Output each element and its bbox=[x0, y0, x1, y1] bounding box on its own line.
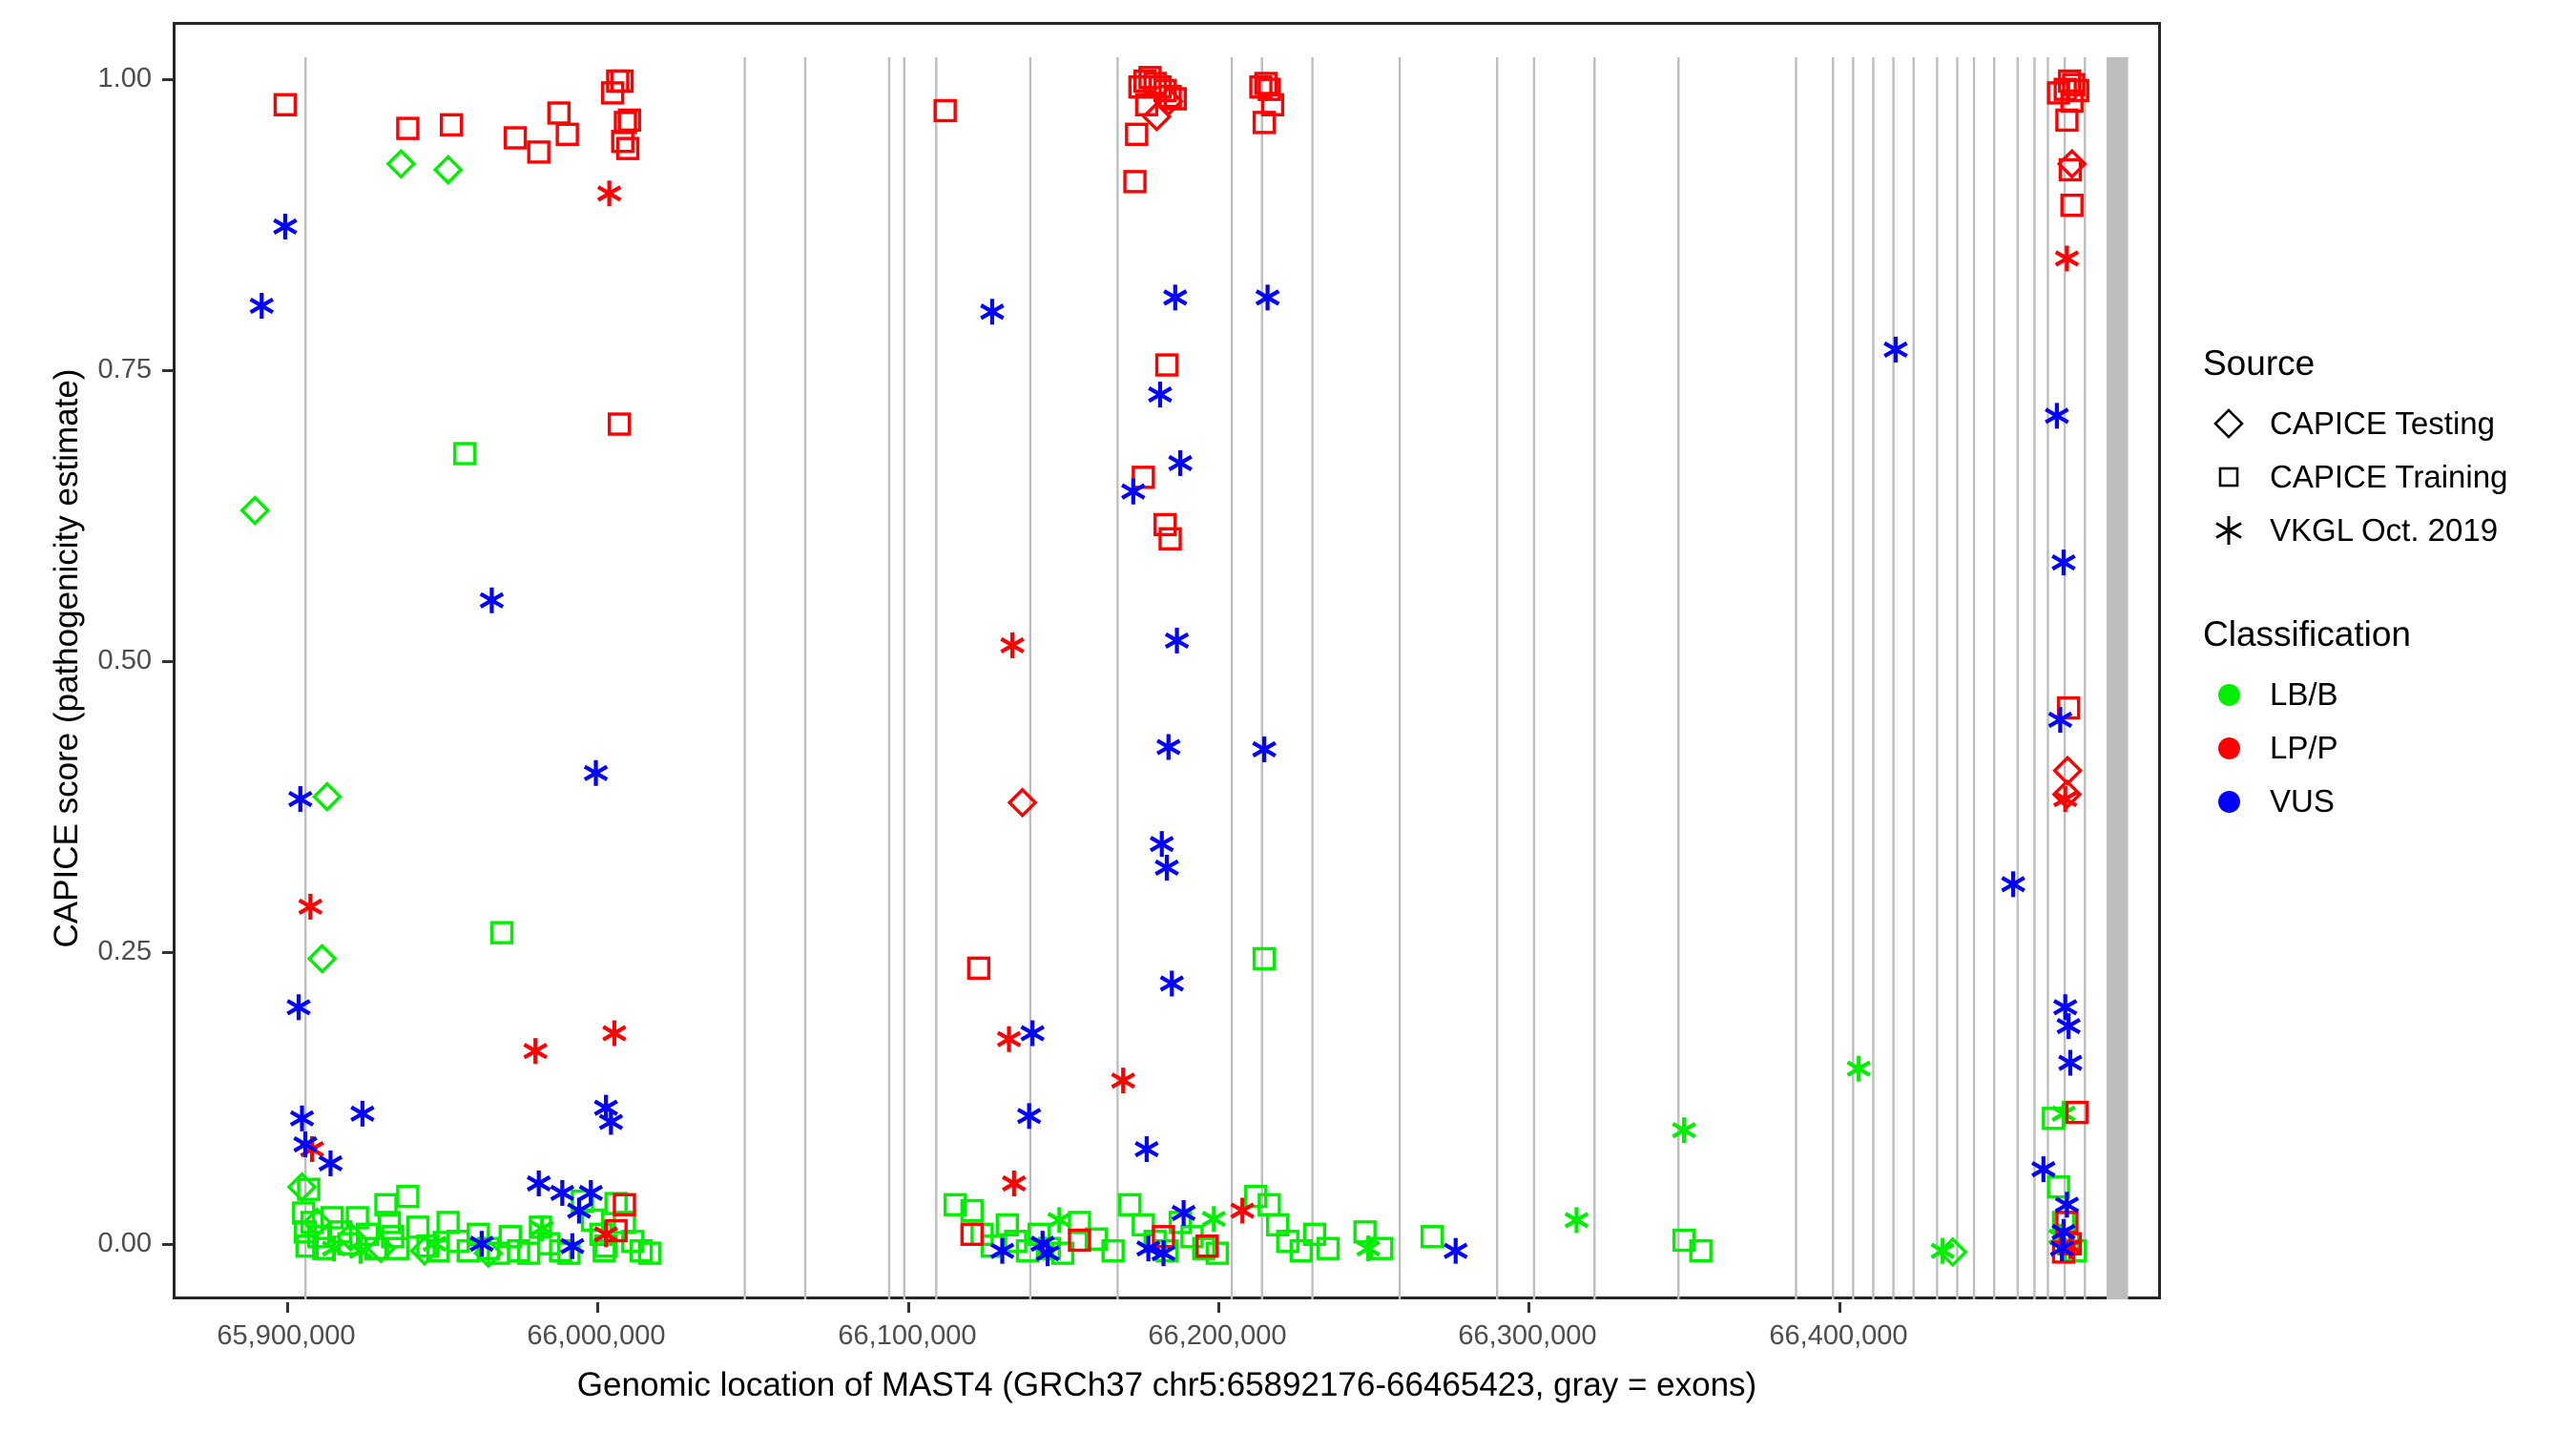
exon-band bbox=[2046, 57, 2048, 1299]
data-point-diamond bbox=[309, 945, 335, 971]
data-point-asterisk bbox=[289, 786, 311, 812]
data-point-square bbox=[442, 114, 462, 135]
data-point-square bbox=[549, 103, 569, 123]
legend-item-vus[interactable]: VUS bbox=[2199, 775, 2571, 828]
x-tick-mark bbox=[1217, 1302, 1220, 1313]
exon-band bbox=[2017, 57, 2019, 1299]
data-point-asterisk bbox=[300, 894, 322, 920]
legend-group-source: Source CAPICE Testing CAPICE Training bbox=[2199, 343, 2571, 557]
x-tick-label-65900000: 65,900,000 bbox=[217, 1320, 355, 1352]
legend-group-classification: Classification LB/B LP/P VUS bbox=[2199, 614, 2571, 828]
x-tick-mark bbox=[1839, 1302, 1841, 1313]
data-point-asterisk bbox=[2059, 1050, 2081, 1076]
exon-band bbox=[1973, 57, 1975, 1299]
data-point-square bbox=[935, 100, 955, 120]
data-point-asterisk bbox=[1672, 1117, 1694, 1143]
data-point-asterisk bbox=[1257, 284, 1278, 310]
data-point-asterisk bbox=[1232, 1198, 1254, 1224]
data-point-square bbox=[617, 138, 637, 158]
data-point-asterisk bbox=[600, 1110, 622, 1135]
data-point-asterisk bbox=[981, 299, 1003, 324]
data-point-square bbox=[1125, 172, 1145, 192]
y-tick-label-0.00: 0.00 bbox=[0, 1228, 152, 1259]
data-point-asterisk bbox=[1122, 479, 1144, 505]
data-point-square bbox=[398, 1187, 418, 1207]
red-dot-icon bbox=[2199, 726, 2258, 770]
legend-item-lp-p[interactable]: LP/P bbox=[2199, 721, 2571, 775]
data-point-square bbox=[1127, 124, 1147, 144]
data-point-diamond bbox=[1009, 790, 1035, 816]
data-point-asterisk bbox=[1566, 1207, 1588, 1233]
exon-band bbox=[2107, 57, 2129, 1299]
data-point-square bbox=[438, 1213, 458, 1233]
data-point-asterisk bbox=[1112, 1068, 1134, 1093]
data-point-square bbox=[387, 1238, 407, 1258]
diamond-icon bbox=[2199, 402, 2258, 446]
data-point-square bbox=[613, 132, 633, 152]
data-point-asterisk bbox=[1444, 1238, 1466, 1264]
exon-band bbox=[1261, 57, 1263, 1299]
data-point-asterisk bbox=[1018, 1103, 1040, 1129]
legend-label: CAPICE Testing bbox=[2270, 405, 2495, 442]
x-tick-mark bbox=[596, 1302, 599, 1313]
exon-bands-layer bbox=[304, 57, 2129, 1299]
data-point-square bbox=[275, 94, 295, 114]
legend-title-classification: Classification bbox=[2203, 614, 2571, 654]
data-point-asterisk bbox=[1021, 1021, 1043, 1047]
exon-band bbox=[804, 57, 806, 1299]
data-point-asterisk bbox=[2052, 550, 2074, 575]
x-axis-title: Genomic location of MAST4 (GRCh37 chr5:6… bbox=[0, 1366, 2334, 1404]
data-point-asterisk bbox=[1166, 628, 1188, 653]
data-point-diamond bbox=[388, 151, 414, 176]
data-point-asterisk bbox=[1003, 1171, 1025, 1196]
exon-band bbox=[2033, 57, 2035, 1299]
data-point-asterisk bbox=[1049, 1207, 1070, 1233]
chart-root: CAPICE score (pathogenicity estimate) 1.… bbox=[0, 0, 2576, 1431]
data-point-square bbox=[455, 444, 475, 464]
data-point-square bbox=[1318, 1238, 1338, 1258]
data-point-square bbox=[491, 923, 511, 943]
exon-band bbox=[1993, 57, 1995, 1299]
exon-band bbox=[888, 57, 890, 1299]
legend-label: VUS bbox=[2270, 783, 2335, 819]
data-point-square bbox=[557, 124, 577, 144]
data-point-diamond bbox=[435, 156, 461, 182]
data-point-asterisk bbox=[1169, 450, 1191, 476]
y-tick-mark bbox=[162, 1243, 173, 1246]
data-point-asterisk bbox=[1164, 284, 1186, 310]
exon-band bbox=[743, 57, 745, 1299]
data-point-asterisk bbox=[2058, 1013, 2080, 1039]
y-tick-mark bbox=[162, 951, 173, 954]
data-point-square bbox=[1157, 355, 1177, 375]
data-point-asterisk bbox=[2002, 871, 2024, 897]
data-point-asterisk bbox=[1149, 382, 1171, 407]
data-point-asterisk bbox=[1001, 633, 1023, 658]
legend-label: VKGL Oct. 2019 bbox=[2270, 512, 2498, 549]
data-point-square bbox=[506, 128, 526, 148]
square-icon bbox=[2199, 455, 2258, 499]
legend: Source CAPICE Testing CAPICE Training bbox=[2199, 343, 2571, 885]
data-point-asterisk bbox=[1157, 735, 1179, 760]
exon-band bbox=[1533, 57, 1535, 1299]
y-tick-label-0.50: 0.50 bbox=[0, 645, 152, 676]
blue-dot-icon bbox=[2199, 779, 2258, 823]
y-tick-label-1.00: 1.00 bbox=[0, 63, 152, 94]
data-point-square bbox=[968, 958, 988, 978]
legend-item-vkgl-oct-2019[interactable]: VKGL Oct. 2019 bbox=[2199, 504, 2571, 557]
x-tick-mark bbox=[286, 1302, 289, 1313]
data-point-asterisk bbox=[1847, 1056, 1869, 1082]
legend-label: CAPICE Training bbox=[2270, 459, 2507, 495]
data-point-diamond bbox=[242, 498, 268, 524]
plot-panel bbox=[173, 22, 2161, 1299]
exon-band bbox=[1872, 57, 1874, 1299]
green-dot-icon bbox=[2199, 673, 2258, 716]
legend-item-capice-testing[interactable]: CAPICE Testing bbox=[2199, 397, 2571, 450]
data-point-square bbox=[2057, 110, 2077, 130]
data-point-asterisk bbox=[1151, 831, 1173, 857]
x-tick-label-66400000: 66,400,000 bbox=[1769, 1320, 1907, 1352]
legend-item-capice-training[interactable]: CAPICE Training bbox=[2199, 450, 2571, 504]
data-point-asterisk bbox=[551, 1180, 573, 1206]
data-point-asterisk bbox=[1884, 337, 1906, 363]
exon-band bbox=[1593, 57, 1595, 1299]
legend-item-lb-b[interactable]: LB/B bbox=[2199, 668, 2571, 721]
exon-band bbox=[1677, 57, 1679, 1299]
data-point-square bbox=[407, 1217, 427, 1237]
x-tick-mark bbox=[907, 1302, 910, 1313]
x-tick-label-66300000: 66,300,000 bbox=[1458, 1320, 1596, 1352]
data-point-asterisk bbox=[2049, 707, 2071, 733]
exon-band bbox=[1852, 57, 1854, 1299]
x-tick-label-66100000: 66,100,000 bbox=[838, 1320, 976, 1352]
data-points-layer bbox=[242, 68, 2088, 1266]
data-point-asterisk bbox=[291, 1106, 313, 1131]
y-tick-label-0.75: 0.75 bbox=[0, 354, 152, 385]
data-point-square bbox=[1423, 1227, 1443, 1247]
exon-band bbox=[1956, 57, 1958, 1299]
data-point-asterisk bbox=[1253, 736, 1275, 762]
legend-title-source: Source bbox=[2203, 343, 2571, 384]
exon-band bbox=[904, 57, 905, 1299]
data-point-asterisk bbox=[998, 1027, 1020, 1052]
data-point-asterisk bbox=[2056, 245, 2078, 271]
exon-band bbox=[1116, 57, 1118, 1299]
exon-band bbox=[1311, 57, 1313, 1299]
exon-band bbox=[1496, 57, 1498, 1299]
exon-band bbox=[304, 57, 306, 1299]
exon-band bbox=[1231, 57, 1233, 1299]
data-point-asterisk bbox=[603, 1021, 625, 1047]
data-point-diamond bbox=[2055, 757, 2081, 783]
legend-label: LB/B bbox=[2270, 676, 2338, 713]
data-point-asterisk bbox=[1135, 1136, 1157, 1162]
x-tick-mark bbox=[1527, 1302, 1530, 1313]
data-point-asterisk bbox=[528, 1171, 550, 1196]
exon-band bbox=[935, 57, 937, 1299]
data-point-square bbox=[610, 414, 630, 434]
data-point-asterisk bbox=[481, 588, 503, 613]
data-point-asterisk bbox=[1161, 970, 1183, 996]
asterisk-icon bbox=[2199, 508, 2258, 552]
data-point-asterisk bbox=[1155, 855, 1177, 881]
data-point-asterisk bbox=[274, 214, 296, 239]
exon-band bbox=[1399, 57, 1401, 1299]
data-point-square bbox=[1255, 948, 1275, 968]
data-point-asterisk bbox=[251, 293, 273, 319]
data-point-asterisk bbox=[585, 760, 607, 786]
y-tick-mark bbox=[162, 369, 173, 372]
y-tick-mark bbox=[162, 660, 173, 663]
data-point-diamond bbox=[314, 784, 340, 810]
x-tick-label-66200000: 66,200,000 bbox=[1148, 1320, 1286, 1352]
data-point-asterisk bbox=[2054, 994, 2076, 1020]
scatter-plot-canvas bbox=[173, 22, 2161, 1299]
exon-band bbox=[1913, 57, 1915, 1299]
y-tick-label-0.25: 0.25 bbox=[0, 936, 152, 967]
data-point-square bbox=[529, 142, 549, 162]
exon-band bbox=[1936, 57, 1938, 1299]
data-point-asterisk bbox=[1203, 1206, 1225, 1232]
data-point-asterisk bbox=[524, 1038, 546, 1064]
exon-band bbox=[1832, 57, 1834, 1299]
data-point-asterisk bbox=[580, 1180, 602, 1206]
data-point-asterisk bbox=[598, 180, 620, 206]
legend-label: LP/P bbox=[2270, 730, 2338, 766]
data-point-square bbox=[1160, 529, 1180, 549]
y-tick-mark bbox=[162, 78, 173, 81]
data-point-square bbox=[1155, 514, 1175, 534]
exon-band bbox=[1795, 57, 1797, 1299]
data-point-square bbox=[1120, 1194, 1140, 1214]
data-point-square bbox=[398, 118, 418, 138]
data-point-asterisk bbox=[351, 1101, 373, 1127]
exon-band bbox=[1892, 57, 1894, 1299]
x-tick-label-66000000: 66,000,000 bbox=[527, 1320, 665, 1352]
